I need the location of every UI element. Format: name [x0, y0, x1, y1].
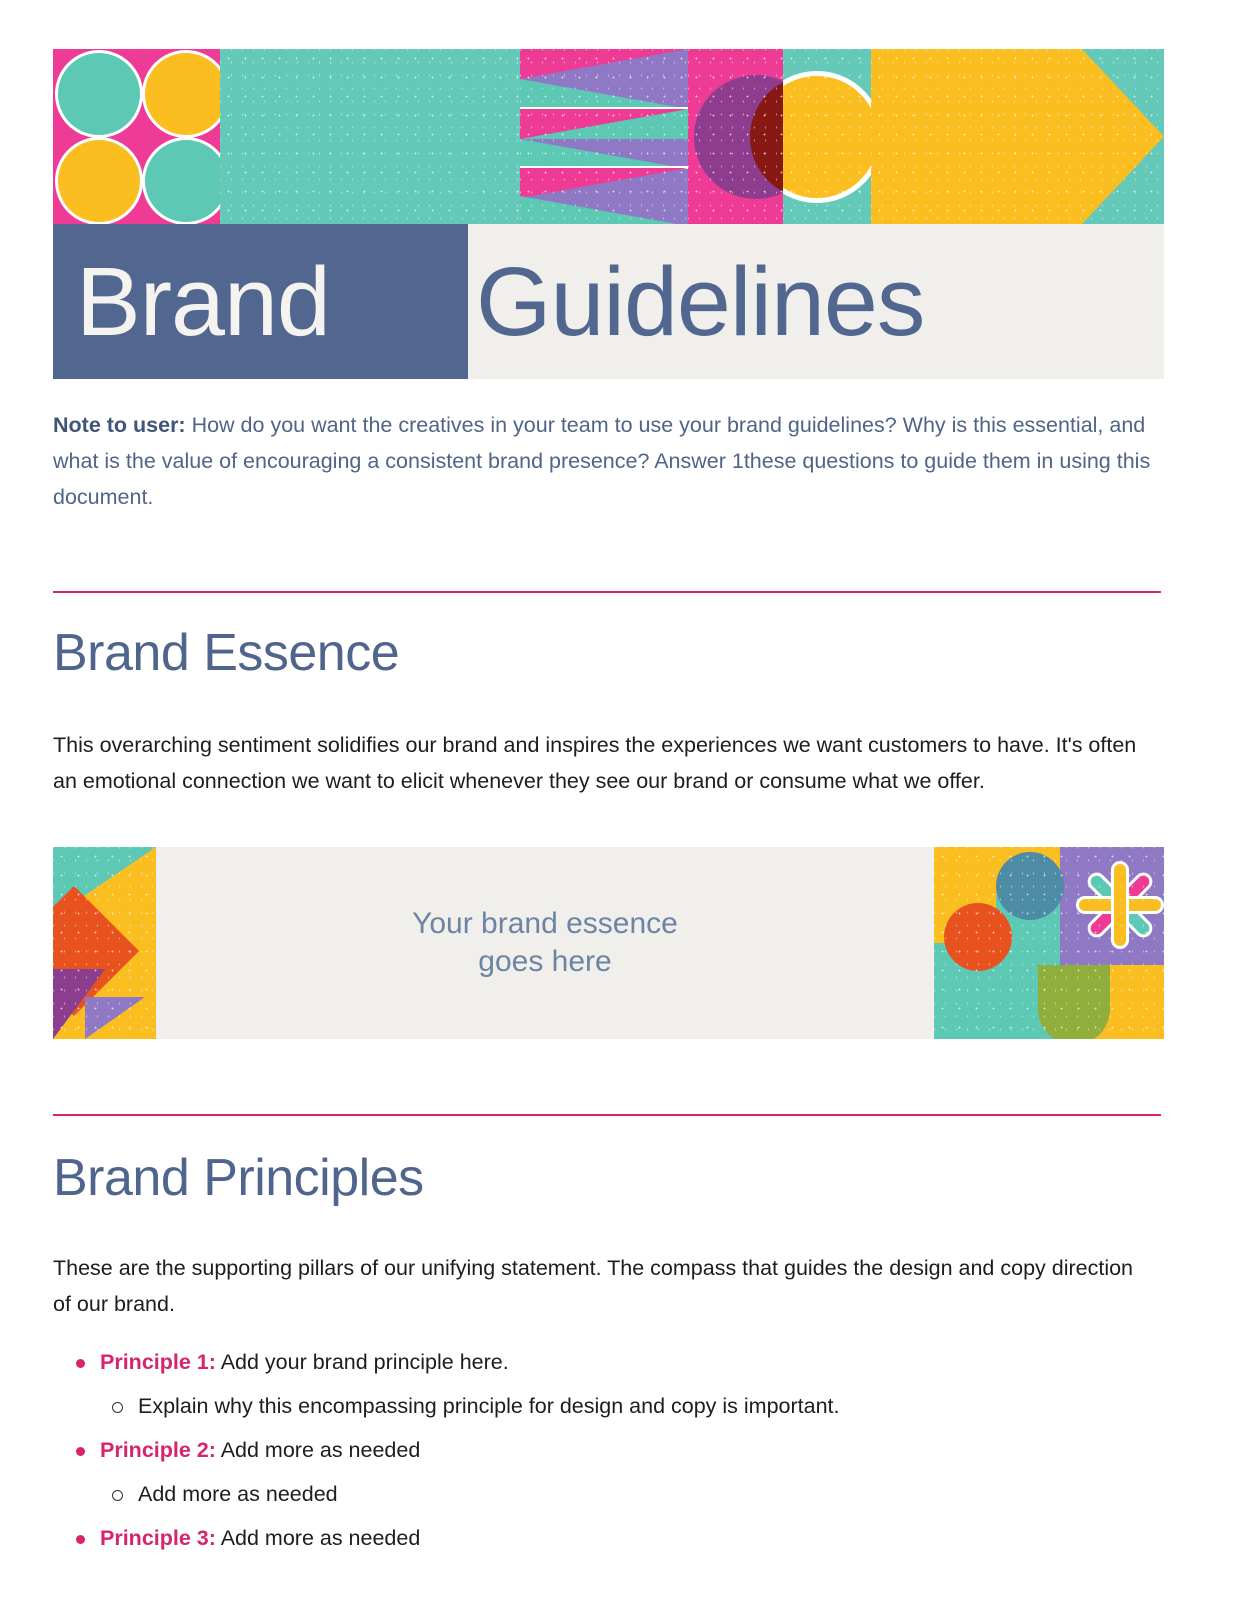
- paragraph-brand-essence: This overarching sentiment solidifies ou…: [53, 727, 1153, 799]
- principle-text: Add your brand principle here.: [216, 1350, 509, 1374]
- pattern-speckled-teal-block: [220, 49, 520, 224]
- circle-yellow-bottom-left: [55, 137, 143, 224]
- heading-brand-principles: Brand Principles: [53, 1152, 424, 1204]
- triangle-teal-3: [520, 139, 688, 169]
- triangle-pink-1: [520, 49, 688, 79]
- essence-placeholder-area[interactable]: Your brand essence goes here: [156, 847, 934, 1039]
- list-item: Principle 2: Add more as needed: [70, 1428, 1150, 1472]
- note-to-user: Note to user: How do you want the creati…: [53, 407, 1151, 515]
- circle-orange: [944, 903, 1012, 971]
- triangle-lavender-lower: [85, 997, 145, 1039]
- triangle-teal-1: [520, 79, 688, 109]
- burst-bar-vertical: [1111, 861, 1129, 949]
- pattern-sun-block: [783, 49, 871, 224]
- list-item: Principle 3: Add more as needed: [70, 1516, 1150, 1560]
- principle-label: Principle 1:: [100, 1350, 216, 1374]
- circle-yellow-sun: [783, 71, 871, 203]
- paragraph-brand-principles: These are the supporting pillars of our …: [53, 1250, 1151, 1322]
- brand-guidelines-page: Brand Guidelines Note to user: How do yo…: [0, 0, 1237, 1600]
- section-divider-principles: [53, 1114, 1161, 1116]
- circle-yellow-top-right: [142, 50, 220, 138]
- triangle-pink-3: [520, 168, 688, 198]
- brand-essence-banner: Your brand essence goes here: [53, 847, 1164, 1039]
- note-to-user-label: Note to user:: [53, 413, 186, 437]
- asterisk-burst-icon: [1072, 855, 1164, 955]
- principle-label: Principle 2:: [100, 1438, 216, 1462]
- note-to-user-text: How do you want the creatives in your te…: [53, 413, 1150, 509]
- circle-teal-bottom-right: [142, 137, 220, 224]
- triangle-teal-4: [520, 196, 688, 224]
- pattern-chevron-block: [871, 49, 1164, 224]
- chevron-yellow-shape: [871, 49, 1164, 224]
- circle-teal-top-left: [55, 50, 143, 138]
- essence-right-decoration: [934, 847, 1164, 1039]
- decorative-pattern-strip: [53, 49, 1164, 224]
- list-item: Principle 1: Add your brand principle he…: [70, 1340, 1150, 1384]
- header-banner: Brand Guidelines: [53, 49, 1164, 379]
- triangle-pink-2: [520, 109, 688, 139]
- title-brand-block: Brand: [53, 224, 468, 379]
- principles-list: Principle 1: Add your brand principle he…: [70, 1340, 1150, 1560]
- principle-subtext: Add more as needed: [138, 1482, 338, 1506]
- list-item: Add more as needed: [70, 1472, 1150, 1516]
- principle-label: Principle 3:: [100, 1526, 216, 1550]
- pattern-triangles-block: [520, 49, 688, 224]
- bowl-olive-shape: [1038, 965, 1110, 1039]
- principle-subtext: Explain why this encompassing principle …: [138, 1394, 840, 1418]
- pattern-eclipse-block: [688, 49, 783, 224]
- heading-brand-essence: Brand Essence: [53, 627, 399, 679]
- page-title-part-one: Brand: [76, 253, 330, 350]
- circle-steel-blue: [996, 852, 1064, 920]
- principle-text: Add more as needed: [216, 1526, 420, 1550]
- essence-placeholder-text: Your brand essence goes here: [412, 905, 678, 981]
- principle-text: Add more as needed: [216, 1438, 420, 1462]
- section-divider-essence: [53, 591, 1161, 593]
- essence-left-decoration: [53, 847, 156, 1039]
- document-title-row: Brand Guidelines: [53, 224, 1164, 379]
- pattern-circles-block: [53, 49, 220, 224]
- page-title-part-two: Guidelines: [476, 253, 924, 350]
- list-item: Explain why this encompassing principle …: [70, 1384, 1150, 1428]
- title-guidelines-block: Guidelines: [468, 224, 1164, 379]
